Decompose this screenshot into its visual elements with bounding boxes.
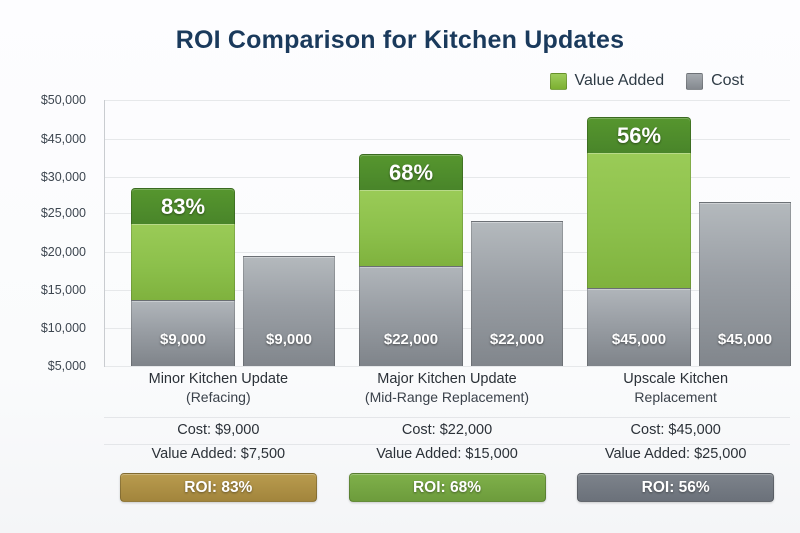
y-axis-tick: $50,000 xyxy=(0,93,86,107)
category-major: Major Kitchen Update (Mid-Range Replacem… xyxy=(333,370,562,406)
roi-badge-wrap-minor: ROI: 83% xyxy=(104,473,333,502)
legend-swatch-cost-icon xyxy=(686,73,703,90)
bar-segment-value-added-upscale xyxy=(587,152,691,288)
bar-roi-cap-minor: 83% xyxy=(131,188,235,224)
detail-cost-upscale: Cost: $45,000 xyxy=(561,418,790,442)
roi-badge-major[interactable]: ROI: 68% xyxy=(349,473,546,502)
roi-badge-minor[interactable]: ROI: 83% xyxy=(120,473,317,502)
cost-bar-minor[interactable]: $9,000 xyxy=(243,256,335,366)
bar-cost-label-major: $22,000 xyxy=(360,331,462,348)
y-axis-tick: $5,000 xyxy=(0,359,86,373)
cost-bar-label-major: $22,000 xyxy=(472,331,562,348)
stacked-bar-upscale[interactable]: $45,000 56% xyxy=(587,117,691,366)
bar-cost-label-minor: $9,000 xyxy=(132,331,234,348)
detail-divider-middle xyxy=(104,444,790,445)
bar-segment-value-added-major xyxy=(359,189,463,266)
y-axis-tick: $45,000 xyxy=(0,132,86,146)
bar-roi-percent-minor: 83% xyxy=(161,194,205,220)
y-axis-tick: $20,000 xyxy=(0,245,86,259)
bar-roi-percent-major: 68% xyxy=(389,160,433,186)
gridline xyxy=(105,100,790,101)
legend-label-value-added: Value Added xyxy=(575,72,665,90)
cost-bar-label-upscale: $45,000 xyxy=(700,331,790,348)
detail-cost-major: Cost: $22,000 xyxy=(333,418,562,442)
detail-row-value-added: Value Added: $7,500 Value Added: $15,000… xyxy=(104,442,790,466)
plot-area: $50,000 $45,000 $30,000 $25,000 $20,000 … xyxy=(104,100,790,367)
category-minor: Minor Kitchen Update (Refacing) xyxy=(104,370,333,406)
bar-segment-cost-minor: $9,000 xyxy=(131,300,235,366)
gridline xyxy=(105,366,790,367)
roi-badge-upscale[interactable]: ROI: 56% xyxy=(577,473,774,502)
bar-segment-value-added-minor xyxy=(131,223,235,300)
category-labels: Minor Kitchen Update (Refacing) Major Ki… xyxy=(104,370,790,406)
y-axis-tick: $30,000 xyxy=(0,170,86,184)
y-axis-tick: $15,000 xyxy=(0,283,86,297)
roi-badge-row: ROI: 83% ROI: 68% ROI: 56% xyxy=(104,473,790,502)
bar-segment-cost-major: $22,000 xyxy=(359,266,463,366)
roi-badge-wrap-major: ROI: 68% xyxy=(333,473,562,502)
detail-table: Cost: $9,000 Cost: $22,000 Cost: $45,000… xyxy=(104,418,790,466)
category-sub-minor: (Refacing) xyxy=(104,388,333,406)
stacked-bar-minor[interactable]: $9,000 83% xyxy=(131,188,235,366)
y-axis-tick: $25,000 xyxy=(0,206,86,220)
cost-bar-label-minor: $9,000 xyxy=(244,331,334,348)
detail-value-minor: Value Added: $7,500 xyxy=(104,442,333,466)
stacked-bar-major[interactable]: $22,000 68% xyxy=(359,154,463,366)
detail-value-major: Value Added: $15,000 xyxy=(333,442,562,466)
category-name-upscale: Upscale Kitchen xyxy=(561,370,790,388)
chart-legend: Value Added Cost xyxy=(550,72,744,90)
category-name-minor: Minor Kitchen Update xyxy=(104,370,333,388)
legend-item-cost[interactable]: Cost xyxy=(686,72,744,90)
category-sub-major: (Mid-Range Replacement) xyxy=(333,388,562,406)
page-title: ROI Comparison for Kitchen Updates xyxy=(0,26,800,55)
detail-row-cost: Cost: $9,000 Cost: $22,000 Cost: $45,000 xyxy=(104,418,790,442)
bar-roi-cap-upscale: 56% xyxy=(587,117,691,153)
bar-cost-label-upscale: $45,000 xyxy=(588,331,690,348)
bar-roi-percent-upscale: 56% xyxy=(617,123,661,149)
category-sub-upscale: Replacement xyxy=(561,388,790,406)
y-axis-tick: $10,000 xyxy=(0,321,86,335)
category-name-major: Major Kitchen Update xyxy=(333,370,562,388)
legend-label-cost: Cost xyxy=(711,72,744,90)
cost-bar-major[interactable]: $22,000 xyxy=(471,221,563,366)
bar-segment-cost-upscale: $45,000 xyxy=(587,288,691,366)
category-upscale: Upscale Kitchen Replacement xyxy=(561,370,790,406)
detail-cost-minor: Cost: $9,000 xyxy=(104,418,333,442)
chart-canvas: ROI Comparison for Kitchen Updates Value… xyxy=(0,0,800,533)
legend-item-value-added[interactable]: Value Added xyxy=(550,72,665,90)
roi-badge-wrap-upscale: ROI: 56% xyxy=(561,473,790,502)
detail-value-upscale: Value Added: $25,000 xyxy=(561,442,790,466)
cost-bar-upscale[interactable]: $45,000 xyxy=(699,202,791,366)
bar-roi-cap-major: 68% xyxy=(359,154,463,190)
legend-swatch-value-added-icon xyxy=(550,73,567,90)
